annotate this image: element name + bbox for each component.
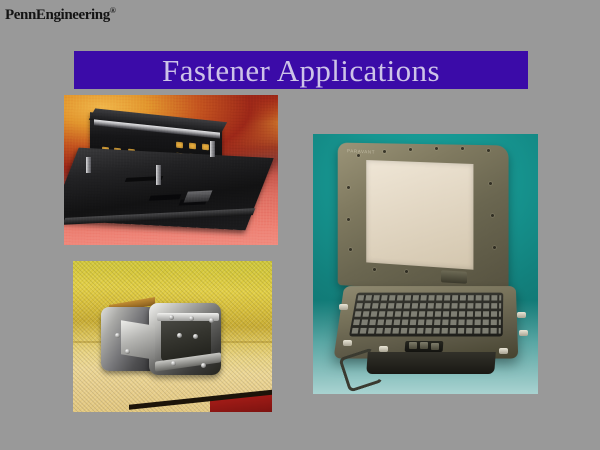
laptop-rivet [383,150,386,153]
keyboard-row [352,328,501,334]
keyboard-row [357,295,501,300]
laptop-hinge [441,270,467,283]
laptop-latch[interactable] [517,312,526,318]
laptop-latch[interactable] [519,330,528,336]
product-photo-chassis [64,95,278,245]
enclosure-fastener [193,334,198,339]
laptop-rivet [491,214,494,217]
registered-trademark-icon: ® [110,6,116,15]
laptop-latch[interactable] [379,346,388,352]
enclosure-fastener [169,315,174,320]
penn-engineering-logo: PennEngineering® [5,7,115,23]
laptop-rivet [461,147,464,150]
trackpad-button-right[interactable] [431,343,439,350]
laptop-rivet [435,147,438,150]
laptop-screen [366,160,473,270]
enclosure-fastener [177,333,182,338]
laptop-rivet [487,149,490,152]
laptop-latch[interactable] [343,340,352,346]
enclosure-fastener [115,333,120,338]
enclosure-fastener [201,363,206,368]
title-banner: Fastener Applications [74,51,528,89]
product-photo-enclosure [73,261,272,412]
laptop-latch[interactable] [339,304,348,310]
laptop-latch[interactable] [499,348,508,354]
enclosure-fastener [171,361,176,366]
laptop-rivet [349,248,352,251]
laptop-rivet [489,182,492,185]
enclosure-fastener [125,349,130,354]
slide-title: Fastener Applications [162,55,440,86]
keyboard-row [353,320,501,326]
enclosure-fastener [189,316,194,321]
keyboard-row [355,311,502,316]
laptop-rivet [347,218,350,221]
product-photo-rugged-laptop: PARAVANT [313,134,538,394]
trackpad-button-left[interactable] [409,342,417,349]
enclosure-fastener [209,318,214,323]
laptop-front-lip [366,352,496,374]
laptop-rivet [405,270,408,273]
photo-grain-overlay [64,95,278,245]
laptop-rivet [347,186,350,189]
logo-text: PennEngineering [5,7,110,23]
laptop-rivet [373,268,376,271]
laptop-keyboard[interactable] [349,293,503,337]
laptop-rivet [357,154,360,157]
presentation-slide: PennEngineering® Fastener Applications [0,0,600,450]
laptop-rivet [493,246,496,249]
keyboard-row [356,303,501,308]
trackpad-button-middle[interactable] [420,342,428,349]
laptop-rivet [409,148,412,151]
